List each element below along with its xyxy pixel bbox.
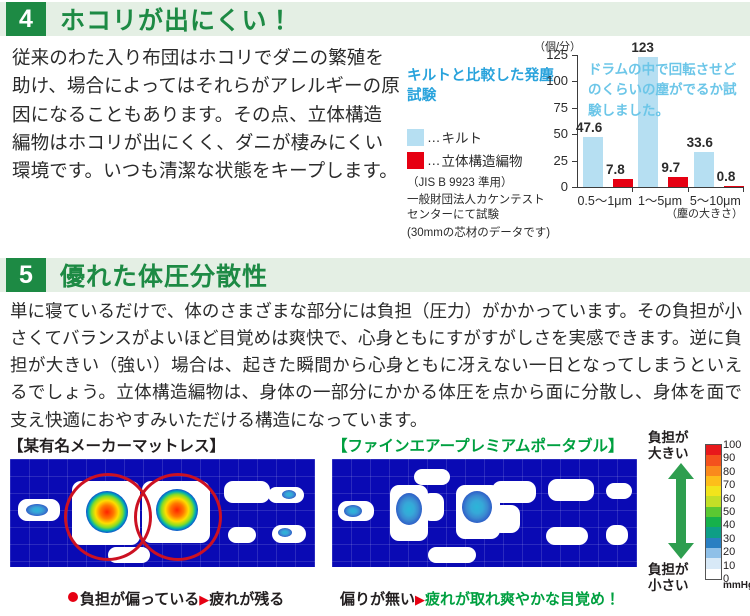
colorbar-segment xyxy=(706,486,721,496)
colorbar xyxy=(705,444,722,580)
y-tick-label: 100 xyxy=(528,73,568,88)
colorbar-tick-label: 70 xyxy=(723,480,735,491)
colorbar-segment xyxy=(706,445,721,455)
colorbar-segment xyxy=(706,476,721,486)
colorbar-tick-label: 80 xyxy=(723,467,735,478)
chart-bar-value: 9.7 xyxy=(661,160,680,175)
x-separator xyxy=(688,187,689,192)
chart-bar xyxy=(668,177,688,187)
pressure-map-right-conclusion: 偏りが無い▶疲れが取れ爽やかな目覚め！ xyxy=(340,588,620,609)
x-separator xyxy=(743,187,744,192)
chart-bar-value: 33.6 xyxy=(687,135,713,150)
chart-bar-value: 0.8 xyxy=(717,169,736,184)
x-separator xyxy=(632,187,633,192)
chart-x-tick-label: 0.5〜1μm xyxy=(577,190,632,209)
section-5-body-text: 単に寝ているだけで、体のさまざまな部分には負担（圧力）がかかっています。その負担… xyxy=(10,298,742,434)
pressure-map-left-image xyxy=(10,459,315,567)
arrow-right-icon-left: ▶ xyxy=(199,592,209,607)
colorbar-segment xyxy=(706,538,721,548)
red-dot-icon xyxy=(68,592,78,602)
section-4-number: 4 xyxy=(6,2,46,36)
colorbar-tick-label: 50 xyxy=(723,507,735,518)
colorbar-segment xyxy=(706,507,721,517)
colorbar-unit: mmHg xyxy=(723,580,750,591)
scale-low-line1: 負担が xyxy=(648,562,689,578)
pressure-map-right-caption: 【ファインエアープレミアムポータブル】 xyxy=(332,434,624,456)
section-5-title: 優れた体圧分散性 xyxy=(60,257,268,293)
chart-bar xyxy=(694,152,714,187)
section-4-body-text: 従来のわた入り布団はホコリでダニの繁殖を助け、場合によってはそれらがアレルギーの… xyxy=(12,44,400,185)
colorbar-tick-label: 60 xyxy=(723,494,735,505)
legend-dots-quilt: … xyxy=(427,130,440,145)
legend-label-knit: 立体構造編物 xyxy=(442,150,523,170)
left-conclusion-a: 負担が偏っている xyxy=(80,591,199,608)
chart-callout-text: ドラムの中で回転させどのくらいの塵がでるか試験しました。 xyxy=(588,60,748,121)
section-4-title: ホコリが出にくい！ xyxy=(60,1,294,37)
pressure-scale-legend: 負担が 大きい 負担が 小さい 1009080706050403020100 m… xyxy=(648,430,748,610)
colorbar-segment xyxy=(706,558,721,568)
dust-test-chart: キルトと比較した発塵試験 … キルト … 立体構造編物 （JIS B 9923 … xyxy=(400,38,750,238)
colorbar-segment xyxy=(706,527,721,537)
colorbar-tick-label: 40 xyxy=(723,520,735,531)
colorbar-segment xyxy=(706,517,721,527)
section-5-header: 5 優れた体圧分散性 xyxy=(0,258,750,292)
quilt-swatch-icon xyxy=(407,129,424,146)
product-feature-page: 4 ホコリが出にくい！ 従来のわた入り布団はホコリでダニの繁殖を助け、場合によっ… xyxy=(0,0,750,616)
y-tick-label: 125 xyxy=(528,47,568,62)
y-tick-label: 25 xyxy=(528,153,568,168)
chart-bar-value: 123 xyxy=(631,40,654,55)
section-4-header: 4 ホコリが出にくい！ xyxy=(0,2,750,36)
colorbar-segment xyxy=(706,496,721,506)
arrow-right-icon-right: ▶ xyxy=(415,592,425,607)
chart-bar xyxy=(583,137,603,187)
scale-low-line2: 小さい xyxy=(648,578,689,594)
chart-bar xyxy=(613,179,633,187)
y-tick-label: 75 xyxy=(528,100,568,115)
left-conclusion-b: 疲れが残る xyxy=(209,591,284,608)
colorbar-segment xyxy=(706,466,721,476)
colorbar-tick-label: 90 xyxy=(723,453,735,464)
y-tick xyxy=(572,187,578,188)
colorbar-segment xyxy=(706,455,721,465)
scale-high-line2: 大きい xyxy=(648,446,689,462)
scale-high-line1: 負担が xyxy=(648,430,689,446)
colorbar-segment xyxy=(706,569,721,579)
chart-bar xyxy=(724,186,744,187)
chart-plot-area: （個/分） 0255075100125 0.5〜1μm1〜5μm5〜10μm （… xyxy=(528,38,750,234)
chart-bar-value: 47.6 xyxy=(576,120,602,135)
colorbar-tick-label: 100 xyxy=(723,440,741,451)
pressure-map-left-conclusion: 負担が偏っている▶疲れが残る xyxy=(68,588,284,609)
colorbar-tick-label: 10 xyxy=(723,561,735,572)
legend-label-quilt: キルト xyxy=(442,127,483,147)
pressure-map-right-image xyxy=(332,459,637,567)
chart-bar-value: 7.8 xyxy=(606,162,625,177)
y-tick-label: 50 xyxy=(528,126,568,141)
colorbar-tick-label: 30 xyxy=(723,534,735,545)
right-conclusion-a: 偏りが無い xyxy=(340,591,415,608)
colorbar-tick-label: 20 xyxy=(723,547,735,558)
arrow-down-icon xyxy=(668,543,694,559)
knit-swatch-icon xyxy=(407,152,424,169)
chart-x-axis-label: （塵の大きさ） xyxy=(666,205,743,221)
pressure-map-left-caption: 【某有名メーカーマットレス】 xyxy=(8,434,225,456)
arrow-shaft xyxy=(676,477,686,545)
colorbar-segment xyxy=(706,548,721,558)
scale-high-label: 負担が 大きい xyxy=(648,430,689,462)
double-arrow-icon xyxy=(668,463,694,559)
section-5-number: 5 xyxy=(6,258,46,292)
y-tick-label: 0 xyxy=(528,179,568,194)
scale-low-label: 負担が 小さい xyxy=(648,562,689,594)
chart-x-axis xyxy=(577,187,743,188)
legend-dots-knit: … xyxy=(427,153,440,168)
right-conclusion-b: 疲れが取れ爽やかな目覚め！ xyxy=(425,591,620,608)
